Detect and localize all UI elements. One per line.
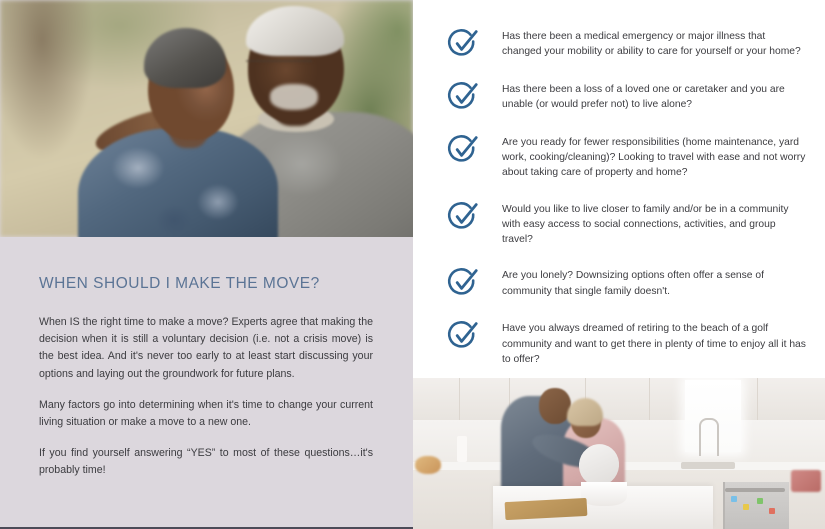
question-text: Are you lonely? Downsizing options often… (502, 265, 807, 298)
question-item: Has there been a loss of a loved one or … (446, 79, 807, 114)
question-item: Has there been a medical emergency or ma… (446, 26, 807, 61)
section-heading: WHEN SHOULD I MAKE THE MOVE? (39, 275, 373, 292)
produce-bowl (415, 456, 441, 474)
photo-man-beard (270, 84, 318, 110)
question-text: Are you ready for fewer responsibilities… (502, 132, 807, 181)
kitchen-towel (791, 470, 821, 492)
fridge-magnet (769, 508, 775, 514)
body-paragraph-2: Many factors go into determining when it… (39, 397, 373, 431)
paper-towel-roll (457, 436, 467, 462)
dishwasher-handle (725, 488, 785, 492)
left-text-block: WHEN SHOULD I MAKE THE MOVE? When IS the… (39, 275, 373, 479)
check-circle-icon (446, 266, 480, 300)
check-circle-icon (446, 80, 480, 114)
mixing-bowl (581, 482, 627, 506)
question-item: Have you always dreamed of retiring to t… (446, 318, 807, 367)
question-text: Has there been a medical emergency or ma… (502, 26, 807, 59)
check-circle-icon (446, 200, 480, 234)
right-column: Has there been a medical emergency or ma… (413, 0, 825, 529)
body-paragraph-1: When IS the right time to make a move? E… (39, 314, 373, 383)
cabinet-divider (757, 378, 758, 420)
photo-senior-couple-outdoors (0, 0, 413, 237)
kitchen-upper-cabinets (413, 378, 825, 421)
question-item: Would you like to live closer to family … (446, 199, 807, 248)
body-paragraph-3: If you find yourself answering “YES” to … (39, 445, 373, 479)
kitchen-woman-hair (567, 398, 603, 426)
photo-couple-cooking-kitchen (413, 378, 825, 529)
kitchen-sink (681, 462, 735, 469)
fridge-magnet (743, 504, 749, 510)
question-item: Are you ready for fewer responsibilities… (446, 132, 807, 181)
kitchen-faucet (699, 418, 719, 456)
question-text: Have you always dreamed of retiring to t… (502, 318, 807, 367)
photo-man-glasses (246, 60, 312, 74)
cabinet-divider (459, 378, 460, 420)
check-circle-icon (446, 27, 480, 61)
left-column: WHEN SHOULD I MAKE THE MOVE? When IS the… (0, 0, 413, 529)
question-item: Are you lonely? Downsizing options often… (446, 265, 807, 300)
question-text: Would you like to live closer to family … (502, 199, 807, 248)
fridge-magnet (731, 496, 737, 502)
fridge-magnet (757, 498, 763, 504)
page-root: WHEN SHOULD I MAKE THE MOVE? When IS the… (0, 0, 825, 529)
question-text: Has there been a loss of a loved one or … (502, 79, 807, 112)
check-circle-icon (446, 319, 480, 353)
cabinet-divider (649, 378, 650, 420)
question-checklist: Has there been a medical emergency or ma… (413, 0, 825, 378)
check-circle-icon (446, 133, 480, 167)
